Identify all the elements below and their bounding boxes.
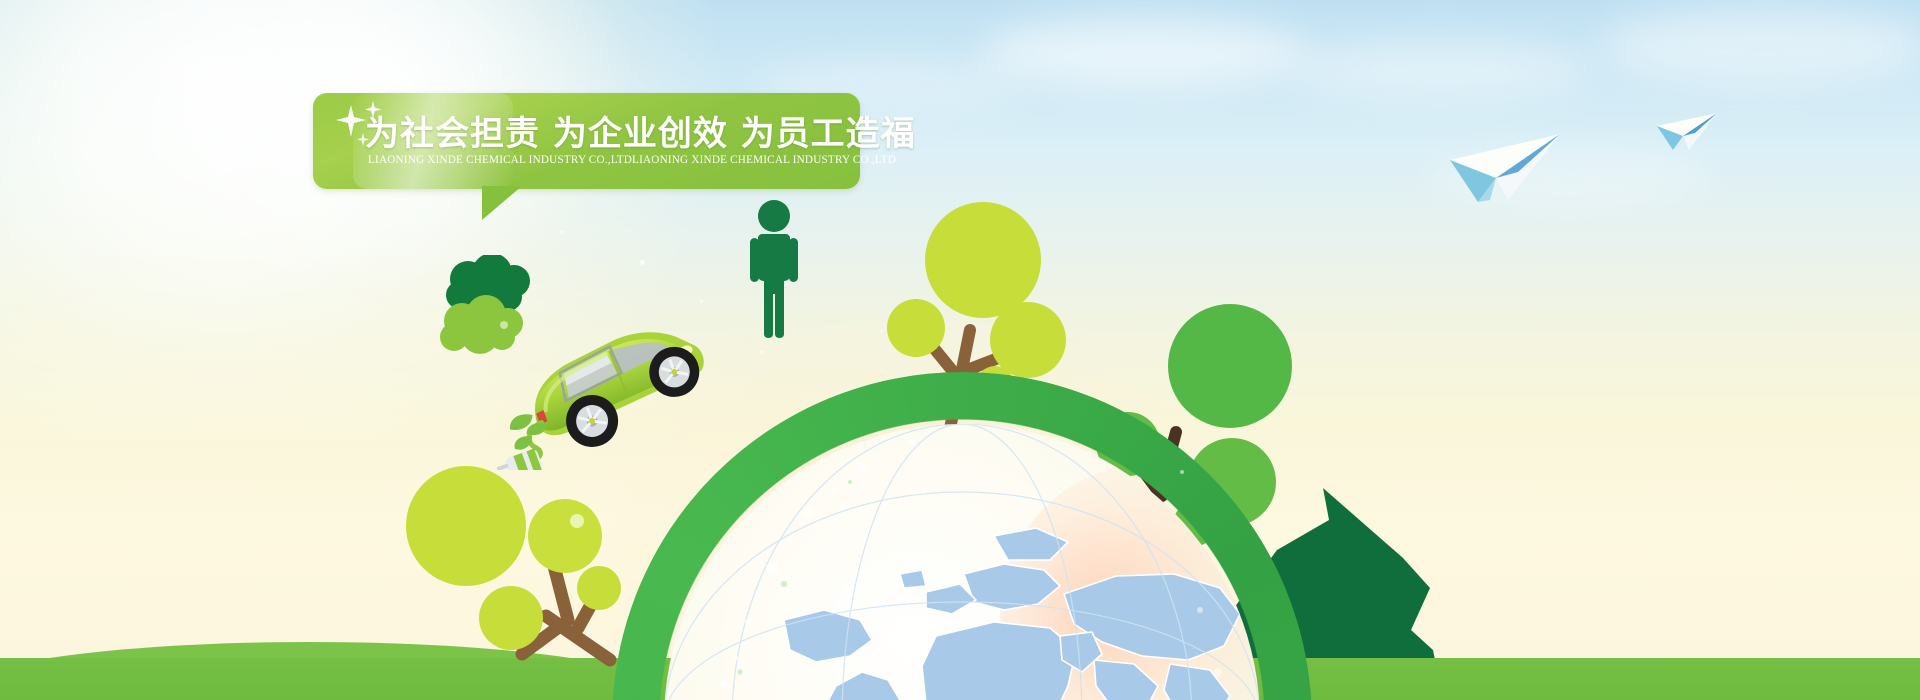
sparkle-dot [700,300,703,303]
paper-plane-icon [1448,128,1578,213]
paper-plane-icon [1655,110,1727,163]
banner-subtitle: LIAONING XINDE CHEMICAL INDUSTRY CO.,LTD… [368,154,848,166]
sparkle-dot [880,330,883,333]
banner-tail [482,186,522,220]
cloud-wisp [1290,40,1590,98]
sparkle-dot [560,230,564,234]
sparkle-dot [1180,470,1184,474]
page-title: 为社会担责 为企业创效 为员工造福 [365,106,916,155]
headline-banner: 为社会担责 为企业创效 为员工造福 LIAONING XINDE CHEMICA… [313,93,860,189]
banner-scene: 为社会担责 为企业创效 为员工造福 LIAONING XINDE CHEMICA… [0,0,1920,700]
cloud-wisp [980,18,1310,88]
cloud-wisp [1600,8,1920,84]
sparkle-dot [640,260,645,265]
person-icon [746,198,802,338]
electric-car-icon [497,300,727,470]
tree-canopy [925,202,1041,318]
sparkle-dot [760,350,764,354]
